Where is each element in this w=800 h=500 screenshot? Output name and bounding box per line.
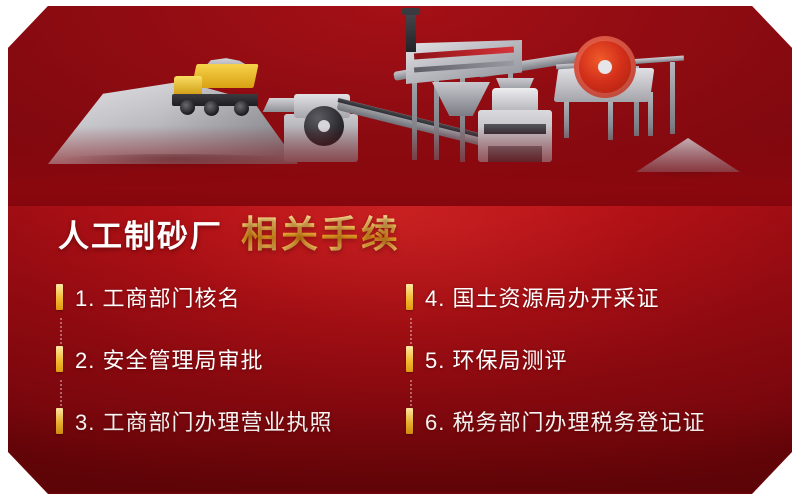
- list-item-label: 1. 工商部门核名: [75, 281, 240, 313]
- gold-bar-icon: [406, 284, 413, 310]
- exhaust-stack-icon: [406, 12, 416, 52]
- list-item-label: 5. 环保局测评: [425, 343, 567, 375]
- list-item: 6. 税务部门办理税务登记证: [406, 390, 746, 452]
- gold-bar-icon: [56, 408, 63, 434]
- list-item-label: 6. 税务部门办理税务登记证: [425, 405, 705, 437]
- procedure-list: 1. 工商部门核名 4. 国土资源局办开采证 2. 安全管理局审批 5. 环保局…: [56, 266, 746, 452]
- washer-support-leg: [670, 62, 675, 134]
- poster-root: 人工制砂厂 相关手续 1. 工商部门核名 4. 国土资源局办开采证 2. 安全管…: [0, 0, 800, 500]
- gold-bar-icon: [56, 284, 63, 310]
- list-item-label: 4. 国土资源局办开采证: [425, 281, 659, 313]
- list-item-label: 2. 安全管理局审批: [75, 343, 263, 375]
- scene-haze: [8, 126, 792, 206]
- list-item: 3. 工商部门办理营业执照: [56, 390, 406, 452]
- list-item: 4. 国土资源局办开采证: [406, 266, 746, 328]
- headline: 人工制砂厂 相关手续: [58, 204, 401, 258]
- headline-accent: 相关手续: [241, 204, 401, 258]
- list-item-label: 3. 工商部门办理营业执照: [75, 405, 332, 437]
- sand-washer-hub: [598, 60, 612, 74]
- truck-wheel-icon: [180, 100, 195, 115]
- list-item: 1. 工商部门核名: [56, 266, 406, 328]
- list-item: 2. 安全管理局审批: [56, 328, 406, 390]
- truck-wheel-icon: [234, 101, 249, 116]
- gold-bar-icon: [56, 346, 63, 372]
- sand-plant-illustration: [8, 6, 792, 206]
- truck-cab-icon: [174, 76, 202, 96]
- truck-wheel-icon: [204, 101, 219, 116]
- headline-primary: 人工制砂厂: [58, 211, 223, 256]
- list-item: 5. 环保局测评: [406, 328, 746, 390]
- gold-bar-icon: [406, 408, 413, 434]
- exhaust-stack-cap: [402, 8, 420, 15]
- gold-bar-icon: [406, 346, 413, 372]
